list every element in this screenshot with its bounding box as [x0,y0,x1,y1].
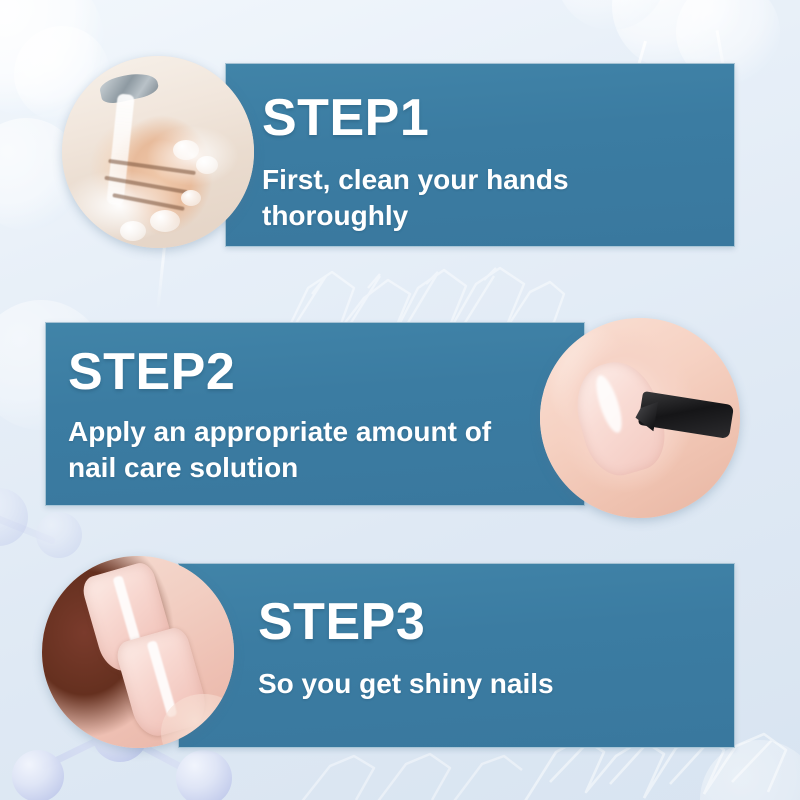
step-3-image-shiny-nails-photo [42,556,234,748]
shiny-nails-photo [42,556,234,748]
step-3-copy: STEP3 So you get shiny nails [258,596,698,702]
step-row-3: STEP3 So you get shiny nails [0,0,800,800]
step-3-description: So you get shiny nails [258,666,698,702]
infographic-poster: STEP1 First, clean your hands thoroughly… [0,0,800,800]
step-3-title: STEP3 [258,596,698,648]
